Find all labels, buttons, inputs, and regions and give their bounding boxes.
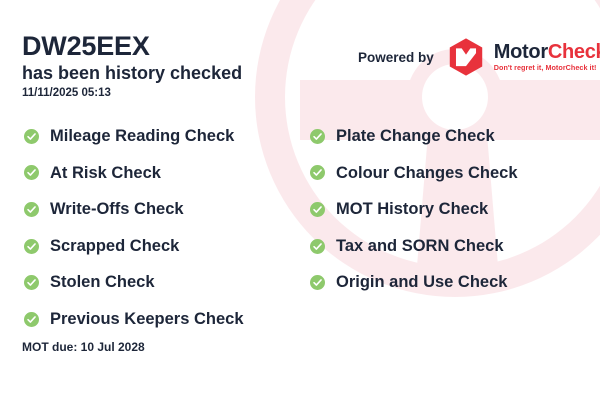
green-check-circle-icon xyxy=(24,312,39,327)
list-item: Mileage Reading Check xyxy=(24,118,314,155)
list-item: MOT History Check xyxy=(310,191,600,228)
brand-tagline: Don't regret it, MotorCheck it! xyxy=(494,63,600,72)
green-check-circle-icon xyxy=(24,202,39,217)
green-check-circle-icon xyxy=(24,165,39,180)
list-item: Tax and SORN Check xyxy=(310,228,600,265)
check-label: Tax and SORN Check xyxy=(336,238,504,255)
list-item: Origin and Use Check xyxy=(310,264,600,301)
list-item: Write-Offs Check xyxy=(24,191,314,228)
motorcheck-wordmark: MotorCheck Don't regret it, MotorCheck i… xyxy=(494,42,600,72)
check-label: Mileage Reading Check xyxy=(50,128,234,145)
list-item: Scrapped Check xyxy=(24,228,314,265)
check-label: Plate Change Check xyxy=(336,128,495,145)
powered-by-label: Powered by xyxy=(358,50,434,65)
list-item: Stolen Check xyxy=(24,264,314,301)
wordmark-check: Check xyxy=(548,41,600,63)
check-label: Colour Changes Check xyxy=(336,165,518,182)
green-check-circle-icon xyxy=(24,239,39,254)
green-check-circle-icon xyxy=(310,129,325,144)
check-label: Scrapped Check xyxy=(50,238,179,255)
green-check-circle-icon xyxy=(24,275,39,290)
green-check-circle-icon xyxy=(310,275,325,290)
check-label: At Risk Check xyxy=(50,165,161,182)
powered-by-brand: Powered by MotorCheck Don't regret it, M… xyxy=(358,36,600,78)
check-list-right: Plate Change Check Colour Changes Check … xyxy=(310,118,600,301)
green-check-circle-icon xyxy=(24,129,39,144)
list-item: Plate Change Check xyxy=(310,118,600,155)
check-timestamp: 11/11/2025 05:13 xyxy=(22,88,111,100)
check-list-left: Mileage Reading Check At Risk Check Writ… xyxy=(24,118,314,338)
wordmark-text: MotorCheck xyxy=(494,42,600,62)
list-item: Previous Keepers Check xyxy=(24,301,314,338)
wordmark-motor: Motor xyxy=(494,41,548,63)
vehicle-history-check-card: DW25EEX has been history checked 11/11/2… xyxy=(0,0,600,400)
check-label: Previous Keepers Check xyxy=(50,311,244,328)
green-check-circle-icon xyxy=(310,202,325,217)
list-item: At Risk Check xyxy=(24,155,314,192)
registration-plate: DW25EEX xyxy=(22,33,150,60)
green-check-circle-icon xyxy=(310,239,325,254)
check-label: Origin and Use Check xyxy=(336,274,507,291)
motorcheck-hexagon-m-icon xyxy=(445,36,487,78)
check-label: MOT History Check xyxy=(336,201,488,218)
list-item: Colour Changes Check xyxy=(310,155,600,192)
page-title: has been history checked xyxy=(22,64,242,82)
mot-due-text: MOT due: 10 Jul 2028 xyxy=(22,341,145,353)
check-label: Write-Offs Check xyxy=(50,201,184,218)
check-label: Stolen Check xyxy=(50,274,155,291)
green-check-circle-icon xyxy=(310,165,325,180)
